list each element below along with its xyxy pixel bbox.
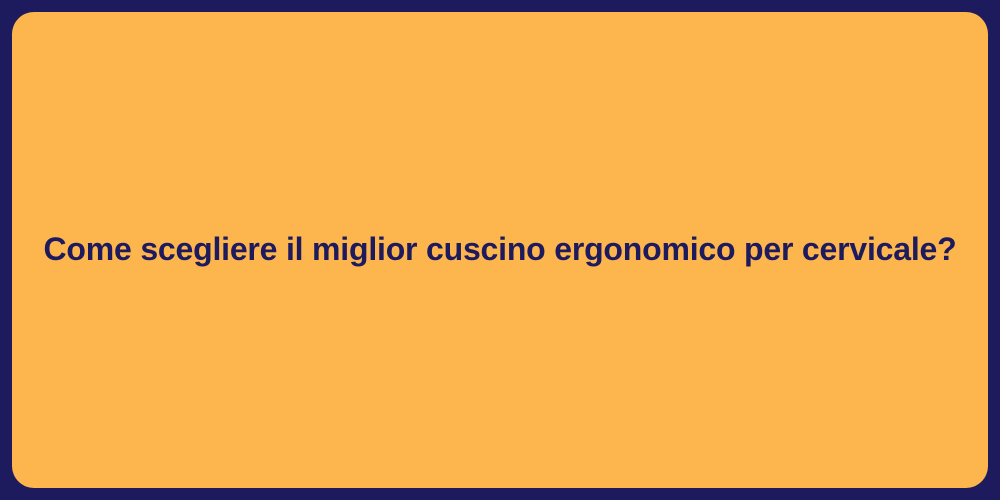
outer-border-frame: Come scegliere il miglior cuscino ergono…	[0, 0, 1000, 500]
headline-card: Come scegliere il miglior cuscino ergono…	[12, 12, 988, 488]
page-title: Come scegliere il miglior cuscino ergono…	[44, 229, 957, 271]
